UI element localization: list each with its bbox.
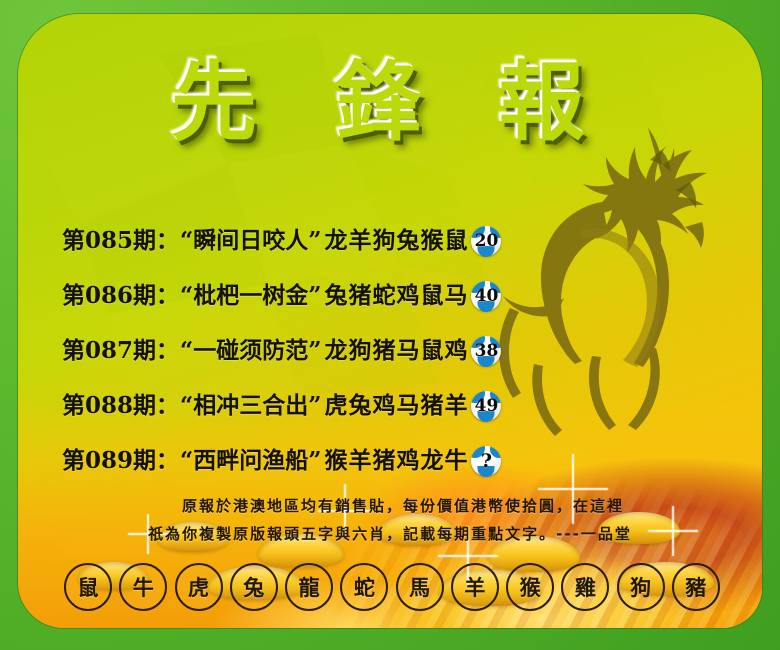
issue-label: 第089期： <box>62 441 179 475</box>
zodiac-stamp-horse[interactable]: 馬 <box>396 563 444 611</box>
zodiac-list: 龙羊狗兔猴鼠 <box>324 221 468 255</box>
footer-note-line1: 原報於港澳地區均有銷售貼，每份價值港幣使拾圓，在這裡 <box>18 492 762 520</box>
zodiac-stamp-tiger[interactable]: 虎 <box>175 563 223 611</box>
zodiac-stamp-ox[interactable]: 牛 <box>119 563 167 611</box>
phrase-text: “西畔问渔船” <box>180 441 321 475</box>
zodiac-stamp-goat[interactable]: 羊 <box>451 563 499 611</box>
prediction-row[interactable]: 第085期： “瞬间日咬人” 龙羊狗兔猴鼠 20 <box>62 210 722 265</box>
zodiac-list: 兔猪蛇鸡鼠马 <box>324 276 468 310</box>
zodiac-stamp-rabbit[interactable]: 兔 <box>230 563 278 611</box>
footer-note: 原報於港澳地區均有銷售貼，每份價值港幣使拾圓，在這裡 祇為你複製原版報頭五字與六… <box>18 492 762 548</box>
lottery-ball-badge[interactable]: 20 <box>471 226 501 256</box>
issue-label: 第085期： <box>62 221 179 255</box>
prediction-row[interactable]: 第089期： “西畔问渔船” 猴羊猪鸡龙牛 ? <box>62 430 722 485</box>
lottery-ball-badge[interactable]: 40 <box>471 281 501 311</box>
footer-note-line2: 祇為你複製原版報頭五字與六肖，記載每期重點文字。---一品堂 <box>18 520 762 548</box>
poster-root: 先 鋒 報 第085期： “瞬间日咬人” 龙羊狗兔猴鼠 20 第086期： “枇… <box>0 0 780 650</box>
ball-number: ? <box>471 446 501 476</box>
zodiac-stamp-monkey[interactable]: 猴 <box>506 563 554 611</box>
phrase-text: “一碰须防范” <box>180 331 321 365</box>
prediction-row[interactable]: 第087期： “一碰须防范” 龙狗猪马鼠鸡 38 <box>62 320 722 375</box>
zodiac-stamp-dog[interactable]: 狗 <box>617 563 665 611</box>
zodiac-list: 龙狗猪马鼠鸡 <box>324 331 468 365</box>
ball-number: 40 <box>471 281 501 311</box>
ball-number: 38 <box>471 336 501 366</box>
inner-panel: 先 鋒 報 第085期： “瞬间日咬人” 龙羊狗兔猴鼠 20 第086期： “枇… <box>18 14 762 628</box>
zodiac-list: 猴羊猪鸡龙牛 <box>324 441 468 475</box>
issue-label: 第086期： <box>62 276 179 310</box>
zodiac-stamp-row: 鼠 牛 虎 兔 龍 蛇 馬 羊 猴 雞 狗 豬 <box>64 563 720 611</box>
lottery-ball-badge[interactable]: 38 <box>471 336 501 366</box>
prediction-row[interactable]: 第088期： “相冲三合出” 虎兔鸡马猪羊 49 <box>62 375 722 430</box>
prediction-row[interactable]: 第086期： “枇杷一树金” 兔猪蛇鸡鼠马 40 <box>62 265 722 320</box>
page-title: 先 鋒 報 <box>18 60 762 146</box>
lottery-ball-badge-unknown[interactable]: ? <box>471 446 501 476</box>
issue-label: 第087期： <box>62 331 179 365</box>
phrase-text: “枇杷一树金” <box>180 276 321 310</box>
prediction-rows: 第085期： “瞬间日咬人” 龙羊狗兔猴鼠 20 第086期： “枇杷一树金” … <box>62 210 722 485</box>
ball-number: 49 <box>471 391 501 421</box>
zodiac-list: 虎兔鸡马猪羊 <box>324 386 468 420</box>
phrase-text: “瞬间日咬人” <box>180 221 321 255</box>
phrase-text: “相冲三合出” <box>180 386 321 420</box>
zodiac-stamp-snake[interactable]: 蛇 <box>340 563 388 611</box>
issue-label: 第088期： <box>62 386 179 420</box>
zodiac-stamp-rat[interactable]: 鼠 <box>64 563 112 611</box>
lottery-ball-badge[interactable]: 49 <box>471 391 501 421</box>
zodiac-stamp-dragon[interactable]: 龍 <box>285 563 333 611</box>
ball-number: 20 <box>471 226 501 256</box>
zodiac-stamp-pig[interactable]: 豬 <box>672 563 720 611</box>
zodiac-stamp-rooster[interactable]: 雞 <box>561 563 609 611</box>
